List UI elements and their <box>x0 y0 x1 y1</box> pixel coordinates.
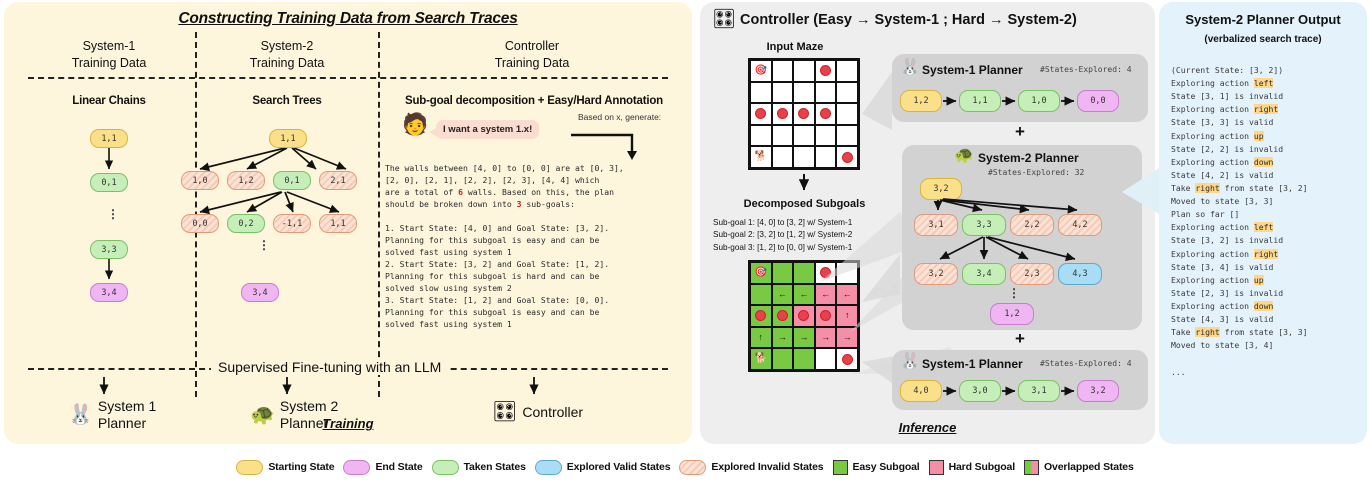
wall-stop-icon <box>842 354 853 365</box>
maze-cell <box>772 60 794 82</box>
legend-swatch <box>236 460 263 475</box>
chain-node-start: 1,1 <box>90 129 128 148</box>
maze-cell <box>793 82 815 104</box>
maze-cell <box>750 284 772 306</box>
s2-node-l1-2: 2,2 <box>1010 214 1054 236</box>
maze-cell <box>793 305 815 327</box>
maze-cell: ← <box>772 284 794 306</box>
s2-node-l2-2: 2,3 <box>1010 263 1054 285</box>
controller-title: Controller (Easy → System-1 ; Hard → Sys… <box>740 12 1077 28</box>
page-title: Constructing Training Data from Search T… <box>4 10 692 28</box>
maze-cell <box>815 125 837 147</box>
maze-cell <box>750 103 772 125</box>
maze-cell: → <box>772 327 794 349</box>
maze-cell <box>836 125 858 147</box>
legend-swatch <box>679 460 706 475</box>
maze-cell: → <box>815 327 837 349</box>
target-icon: 🎯 <box>755 66 767 76</box>
chain-ellipsis: ⋮ <box>107 211 119 218</box>
column-header-system2: System-2Training Data <box>202 38 372 72</box>
maze-cell <box>815 305 837 327</box>
tree-ellipsis: ⋮ <box>258 242 270 249</box>
chain-node-2: 3,3 <box>90 240 128 259</box>
wall-stop-icon <box>798 310 809 321</box>
legend-label: Easy Subgoal <box>853 461 920 473</box>
maze-cell <box>815 262 837 284</box>
s2-ellipsis: ⋮ <box>1008 290 1020 297</box>
maze-cell: ← <box>815 284 837 306</box>
output-panel-title: System-2 Planner Output <box>1159 12 1367 27</box>
plus-sign-2: + <box>1015 329 1025 349</box>
tree-node-l1-3: 2,1 <box>319 171 357 190</box>
maze-cell <box>793 262 815 284</box>
wall-stop-icon <box>820 267 831 278</box>
maze-cell: 🐕 <box>750 348 772 370</box>
maze-cell <box>836 348 858 370</box>
subheader-linear-chains: Linear Chains <box>24 95 194 107</box>
legend-swatch <box>343 460 370 475</box>
legend-label: Hard Subgoal <box>949 461 1015 473</box>
s2-node-l1-3: 4,2 <box>1058 214 1102 236</box>
planner-title-system2: System-2 Planner <box>978 151 1079 165</box>
maze-cell <box>772 82 794 104</box>
maze-cell <box>836 82 858 104</box>
planner-title-system1-top: System-1 Planner <box>922 63 1023 77</box>
turtle-icon: 🐢 <box>954 148 974 164</box>
wall-stop-icon <box>755 108 766 119</box>
agent-icon: 🐕 <box>755 152 767 162</box>
s2-node-l2-1: 3,4 <box>962 263 1006 285</box>
legend-label: End State <box>375 461 422 473</box>
path-arrow-icon: ← <box>843 290 852 299</box>
path-arrow-icon: ↑ <box>759 333 764 342</box>
annotation-text: The walls between [4, 0] to [0, 0] are a… <box>385 163 690 331</box>
solution-maze-grid: 🎯←←←←↑↑→→→→🐕 <box>748 260 860 372</box>
maze-cell <box>815 103 837 125</box>
planner-count-system1-top: #States-Explored: 4 <box>1040 65 1132 74</box>
maze-cell <box>793 146 815 168</box>
subheader-subgoal-decomposition: Sub-goal decomposition + Easy/Hard Annot… <box>384 95 684 107</box>
person-icon: 🧑 <box>402 114 428 135</box>
legend-label: Explored Valid States <box>567 461 671 473</box>
search-trace-text: (Current State: [3, 2])Exploring action … <box>1171 64 1363 379</box>
training-panel: Constructing Training Data from Search T… <box>4 2 692 444</box>
s2-node-l1-0: 3,1 <box>914 214 958 236</box>
legend-swatch <box>833 460 848 475</box>
legend-label: Taken States <box>464 461 526 473</box>
maze-cell <box>793 348 815 370</box>
planner-title-system1-bottom: System-1 Planner <box>922 357 1023 371</box>
maze-cell <box>772 305 794 327</box>
rabbit-icon: 🐰 <box>900 354 920 370</box>
planner-count-system1-bottom: #States-Explored: 4 <box>1040 359 1132 368</box>
wall-stop-icon <box>820 108 831 119</box>
path-arrow-icon: → <box>799 333 808 342</box>
legend-item: Explored Invalid States <box>679 460 823 475</box>
maze-cell <box>793 60 815 82</box>
output-panel-subtitle: (verbalized search trace) <box>1159 34 1367 45</box>
path-arrow-icon: → <box>778 333 787 342</box>
s2-node-l2-3: 4,3 <box>1058 263 1102 285</box>
s1top-node-1: 1,1 <box>959 90 1001 112</box>
maze-cell: → <box>793 327 815 349</box>
s1top-node-0: 1,2 <box>900 90 942 112</box>
legend-swatch <box>1024 460 1039 475</box>
maze-cell <box>750 305 772 327</box>
path-arrow-icon: → <box>843 333 852 342</box>
path-arrow-icon: ← <box>778 290 787 299</box>
legend-swatch <box>929 460 944 475</box>
legend: Starting StateEnd StateTaken StatesExplo… <box>0 450 1370 484</box>
tree-node-l2-3: 1,1 <box>319 214 357 233</box>
wall-stop-icon <box>842 152 853 163</box>
maze-cell: ← <box>836 284 858 306</box>
header-divider <box>28 77 668 79</box>
legend-label: Starting State <box>268 461 334 473</box>
s1bot-node-1: 3,0 <box>959 380 1001 402</box>
maze-cell: ↑ <box>836 305 858 327</box>
inference-panel: 🎛 Controller (Easy → System-1 ; Hard → S… <box>700 2 1155 444</box>
tree-node-l2-1: 0,2 <box>227 214 265 233</box>
sft-label: Supervised Fine-tuning with an LLM <box>211 359 448 375</box>
s1bot-node-2: 3,1 <box>1018 380 1060 402</box>
path-arrow-icon: → <box>821 333 830 342</box>
figure-root: Constructing Training Data from Search T… <box>0 0 1370 484</box>
maze-cell <box>836 103 858 125</box>
maze-cell: 🎯 <box>750 262 772 284</box>
controller-gauge-icon: 🎛 <box>712 10 736 29</box>
maze-cell <box>836 262 858 284</box>
maze-cell <box>772 348 794 370</box>
path-arrow-icon: ↑ <box>845 311 850 320</box>
tree-node-l2-2: -1,1 <box>273 214 311 233</box>
s1top-node-3: 0,0 <box>1077 90 1119 112</box>
tree-node-l2-0: 0,0 <box>181 214 219 233</box>
legend-swatch <box>432 460 459 475</box>
maze-cell <box>793 103 815 125</box>
maze-cell <box>815 146 837 168</box>
wall-stop-icon <box>798 108 809 119</box>
wall-stop-icon <box>755 310 766 321</box>
legend-item: Easy Subgoal <box>833 460 920 475</box>
tree-node-l1-2: 0,1 <box>273 171 311 190</box>
speech-bubble: I want a system 1.x! <box>436 120 539 139</box>
rabbit-icon: 🐰 <box>900 60 920 76</box>
input-maze-label: Input Maze <box>730 41 860 53</box>
maze-cell <box>772 103 794 125</box>
maze-cell: → <box>836 327 858 349</box>
subheader-search-trees: Search Trees <box>202 95 372 107</box>
legend-label: Explored Invalid States <box>711 461 823 473</box>
tree-node-l1-0: 1,0 <box>181 171 219 190</box>
maze-cell <box>836 60 858 82</box>
planner-output-panel: System-2 Planner Output (verbalized sear… <box>1159 2 1367 444</box>
subgoal-list: Sub-goal 1: [4, 0] to [3, 2] w/ System-1… <box>713 217 898 254</box>
maze-cell <box>772 146 794 168</box>
inference-footer-label: Inference <box>700 420 1155 435</box>
s1top-node-2: 1,0 <box>1018 90 1060 112</box>
plus-sign-1: + <box>1015 122 1025 142</box>
legend-item: Taken States <box>432 460 526 475</box>
legend-item: Explored Valid States <box>535 460 671 475</box>
maze-cell <box>815 60 837 82</box>
legend-item: End State <box>343 460 422 475</box>
maze-cell <box>815 82 837 104</box>
s1bot-node-0: 4,0 <box>900 380 942 402</box>
column-header-system1: System-1Training Data <box>24 38 194 72</box>
s2-node-root: 3,2 <box>920 178 962 200</box>
maze-cell <box>815 348 837 370</box>
legend-item: Starting State <box>236 460 334 475</box>
input-maze-grid: 🎯🐕 <box>748 58 860 170</box>
legend-item: Hard Subgoal <box>929 460 1015 475</box>
target-icon: 🎯 <box>755 268 767 278</box>
wall-stop-icon <box>820 65 831 76</box>
column-header-controller: ControllerTraining Data <box>382 38 682 72</box>
maze-cell: ← <box>793 284 815 306</box>
s2-node-l1-1: 3,3 <box>962 214 1006 236</box>
maze-cell: 🎯 <box>750 60 772 82</box>
chain-node-1: 0,1 <box>90 173 128 192</box>
path-arrow-icon: ← <box>821 290 830 299</box>
legend-swatch <box>535 460 562 475</box>
s1bot-node-3: 3,2 <box>1077 380 1119 402</box>
based-on-label: Based on x, generate: <box>578 112 661 122</box>
tree-node-l1-1: 1,2 <box>227 171 265 190</box>
legend-label: Overlapped States <box>1044 461 1134 473</box>
maze-cell <box>750 125 772 147</box>
training-footer-label: Training <box>4 416 692 431</box>
tree-node-leaf: 3,4 <box>241 283 279 302</box>
maze-cell <box>772 262 794 284</box>
maze-cell <box>772 125 794 147</box>
wall-stop-icon <box>777 108 788 119</box>
maze-cell <box>750 82 772 104</box>
legend-item: Overlapped States <box>1024 460 1134 475</box>
maze-cell <box>793 125 815 147</box>
column-divider-2 <box>378 32 380 397</box>
wall-stop-icon <box>777 310 788 321</box>
maze-cell: 🐕 <box>750 146 772 168</box>
s2-node-leaf: 1,2 <box>990 303 1034 325</box>
maze-cell <box>836 146 858 168</box>
agent-icon: 🐕 <box>755 354 767 364</box>
chain-node-end: 3,4 <box>90 283 128 302</box>
maze-cell: ↑ <box>750 327 772 349</box>
s2-node-l2-0: 3,2 <box>914 263 958 285</box>
decomposed-subgoals-label: Decomposed Subgoals <box>722 198 887 210</box>
path-arrow-icon: ← <box>799 290 808 299</box>
planner-count-system2: #States-Explored: 32 <box>988 168 1084 177</box>
tree-node-root: 1,1 <box>269 129 307 148</box>
wall-stop-icon <box>820 310 831 321</box>
